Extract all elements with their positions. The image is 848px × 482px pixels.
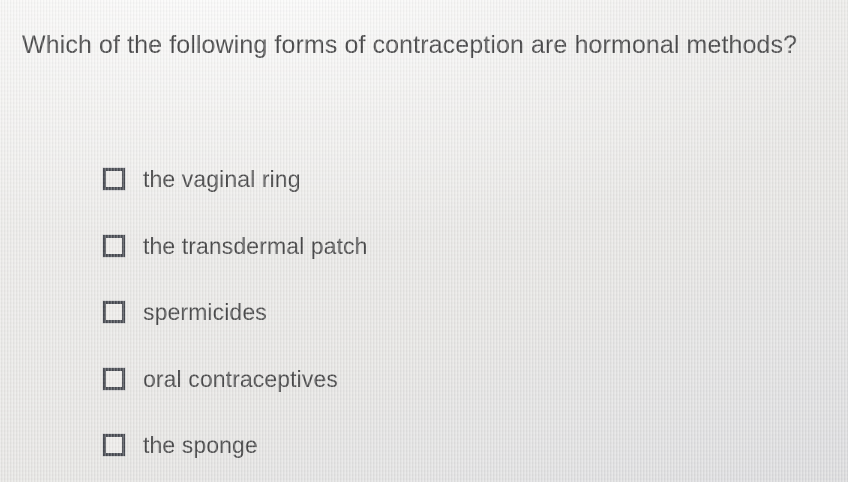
option-label[interactable]: the sponge: [143, 432, 258, 458]
checkbox-icon[interactable]: [103, 368, 125, 390]
option-label[interactable]: oral contraceptives: [143, 366, 338, 392]
checkbox-icon[interactable]: [103, 235, 125, 257]
option-label[interactable]: spermicides: [143, 299, 267, 325]
option-label[interactable]: the vaginal ring: [143, 166, 301, 192]
option-row-the-sponge[interactable]: the sponge: [103, 432, 803, 458]
checkbox-icon[interactable]: [103, 301, 125, 323]
option-row-oral-contraceptives[interactable]: oral contraceptives: [103, 366, 803, 392]
checkbox-icon[interactable]: [103, 434, 125, 456]
option-row-the-transdermal-patch[interactable]: the transdermal patch: [103, 233, 803, 259]
option-row-the-vaginal-ring[interactable]: the vaginal ring: [103, 166, 803, 192]
quiz-content: Which of the following forms of contrace…: [0, 0, 848, 482]
checkbox-icon[interactable]: [103, 168, 125, 190]
options-list: the vaginal ring the transdermal patch s…: [103, 166, 803, 482]
option-label[interactable]: the transdermal patch: [143, 233, 368, 259]
question-text: Which of the following forms of contrace…: [22, 28, 848, 62]
option-row-spermicides[interactable]: spermicides: [103, 299, 803, 325]
quiz-screen: Which of the following forms of contrace…: [0, 0, 848, 482]
